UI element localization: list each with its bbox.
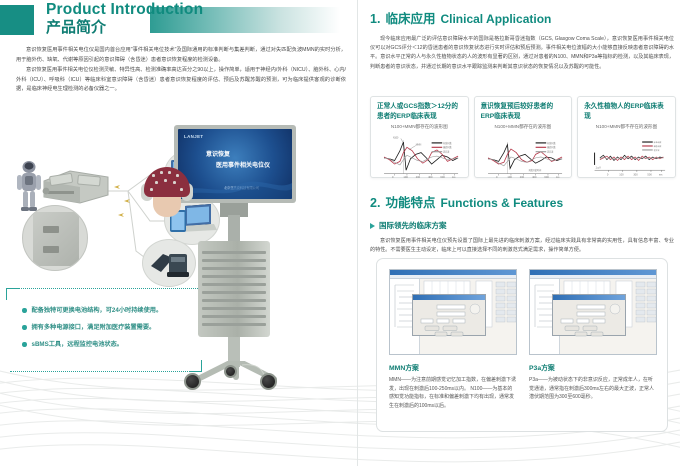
intro-paragraph-1: 意识恢复医用事件相关电位仪是国内首台应用"事件相关电位技术"及国际通用的标准判断…	[16, 46, 346, 65]
mmn-settings-dialog	[412, 294, 486, 336]
svg-text:400: 400	[428, 175, 433, 179]
section1-title-cn: 临床应用	[385, 8, 435, 27]
dialog-form-controls	[413, 300, 487, 337]
erp-waveform-chart-3: 1 µV 0100 300500 ms 标准刺激	[584, 132, 669, 182]
page-title-en: Product Introduction	[46, 2, 203, 18]
svg-text:标准刺激: 标准刺激	[547, 141, 556, 145]
plan-title-p3a: P3a方案	[529, 362, 657, 372]
feature-bullet-box: 配备独特可更换电池结构，可24小时持续使用。 拥有多种电源接口，满足附加医疗装置…	[6, 288, 202, 372]
section2-subheading: 国际领先的临床方案	[370, 220, 674, 231]
svg-text:100: 100	[403, 175, 408, 179]
svg-text:400: 400	[532, 175, 537, 179]
section2-number: 2.	[370, 196, 380, 210]
svg-text:MMN: MMN	[416, 145, 422, 147]
erp-card-2-subtitle: N100+MMN都存在的波形图	[481, 124, 566, 130]
section2-body: 意识恢复医用事件相关电位仪预先设置了国际上最先进的临床刺激方案，经过临床实践具有…	[370, 237, 674, 255]
section-clinical-application: 1. 临床应用 Clinical Application 现今临床应用最广泛的评…	[370, 8, 674, 72]
magnifier-inner-panel	[33, 212, 79, 266]
plan-desc-mmn: MMN——为注意前期感觉记忆加工指数，在偏差刺激下诱发，出现在刺激后100-25…	[389, 376, 517, 410]
svg-text:标准刺激: 标准刺激	[654, 140, 662, 144]
section2-title-en: Functions & Features	[440, 196, 563, 210]
erp-card-normal: 正常人或GCS指数＞12分的患者的ERP临床表现 N100+MMN都存在的波形图…	[370, 96, 469, 178]
bullet-dot-icon	[22, 308, 27, 313]
dialog-form-controls	[553, 300, 627, 337]
power-port-lower	[43, 246, 59, 253]
intro-paragraphs: 意识恢复医用事件相关电位仪是国内首台应用"事件相关电位技术"及国际通用的标准判断…	[16, 46, 346, 96]
svg-text:差异波: 差异波	[654, 148, 660, 152]
bullet-dot-icon	[22, 325, 27, 330]
svg-text:200: 200	[416, 175, 421, 179]
svg-text:0: 0	[607, 173, 609, 177]
svg-text:500: 500	[648, 173, 653, 177]
svg-text:ms: ms	[555, 176, 559, 179]
cart-wheel-right	[260, 373, 277, 390]
svg-text:0: 0	[392, 175, 394, 179]
erp-card-vegetative: 永久性植物人的ERP临床表现 N100+MMN都不存在的波形图 1 µV 010…	[577, 96, 676, 178]
screen-title-line1: 意识恢复	[206, 149, 230, 158]
p3a-settings-dialog	[552, 294, 626, 336]
erp-card-2-title: 意识恢复预后较好患者的ERP临床表现	[481, 102, 566, 121]
svg-text:100: 100	[507, 175, 512, 179]
bullet-item-3: sBMS工具，远程监控电池状态。	[22, 336, 202, 353]
screen-wave-decoration	[178, 173, 292, 199]
battery-module-device	[40, 167, 112, 207]
erp-card-3-title: 永久性植物人的ERP临床表现	[584, 102, 669, 121]
svg-text:刺激开始时间: 刺激开始时间	[528, 168, 541, 172]
svg-text:600: 600	[440, 175, 445, 179]
bullet-box-corner-bottomright	[190, 360, 202, 372]
section1-paragraph: 现今临床应用最广泛的评估意识障碍水平的国际是格拉斯哥昏迷指数（GCS, Glas…	[370, 35, 674, 72]
plan-desc-p3a: P3a——为被动状态下的非意识反应，正常成年人，在听觉通道，通常指在刺激后300…	[529, 376, 657, 402]
plan-column-mmn: MMN方案 MMN——为注意前期感觉记忆加工指数，在偏差刺激下诱发，出现在刺激后…	[389, 269, 517, 421]
svg-text:200: 200	[519, 175, 524, 179]
banner-square	[0, 5, 34, 35]
power-port-upper	[43, 226, 59, 233]
bullet-list: 配备独特可更换电池结构，可24小时持续使用。 拥有多种电源接口，满足附加医疗装置…	[6, 288, 202, 353]
bullet-dot-icon	[22, 342, 27, 347]
svg-text:偏差刺激: 偏差刺激	[443, 145, 452, 149]
bullet-text-3: sBMS工具，远程监控电池状态。	[32, 336, 123, 353]
svg-text:N100: N100	[393, 137, 399, 139]
section2-paragraph: 意识恢复医用事件相关电位仪预先设置了国际上最先进的临床刺激方案，经过临床实践具有…	[370, 237, 674, 255]
bullet-box-dashed-top	[18, 288, 198, 289]
plan-column-p3a: P3a方案 P3a——为被动状态下的非意识反应，正常成年人，在听觉通道，通常指在…	[529, 269, 657, 421]
left-column: Product Introduction 产品简介 意识恢复医用事件相关电位仪是…	[0, 0, 358, 466]
erp-card-3-subtitle: N100+MMN都不存在的波形图	[584, 124, 669, 130]
svg-text:差异波: 差异波	[547, 150, 554, 154]
plan-title-mmn: MMN方案	[389, 362, 517, 372]
section1-title-en: Clinical Application	[440, 12, 551, 26]
bullet-item-2: 拥有多种电源接口，满足附加医疗装置需要。	[22, 319, 202, 336]
triangle-bullet-icon	[370, 223, 375, 229]
svg-text:100: 100	[619, 173, 624, 177]
svg-text:ms: ms	[452, 176, 456, 179]
right-column: 1. 临床应用 Clinical Application 现今临床应用最广泛的评…	[358, 0, 680, 466]
screen-title-line2: 医用事件相关电位仪	[216, 160, 270, 169]
svg-text:偏差刺激: 偏差刺激	[654, 144, 662, 148]
page-title: Product Introduction 产品简介	[46, 2, 203, 36]
monitor-screen: LANJET 意识恢复 医用事件相关电位仪 北京蓝杰克科技有限公司	[178, 129, 292, 199]
section1-body: 现今临床应用最广泛的评估意识障碍水平的国际是格拉斯哥昏迷指数（GCS, Glas…	[370, 35, 674, 72]
section-functions-features: 2. 功能特点 Functions & Features 国际领先的临床方案 意…	[370, 192, 674, 255]
section2-title: 2. 功能特点 Functions & Features	[370, 192, 674, 211]
column-divider	[357, 0, 358, 466]
eeg-electrode-cap	[144, 167, 190, 197]
cart-wheel-center	[224, 365, 237, 378]
erp-card-1-subtitle: N100+MMN都存在的波形图	[377, 124, 462, 130]
cart-wheel-left	[184, 373, 201, 390]
section2-subheading-text: 国际领先的临床方案	[379, 220, 447, 231]
bullet-box-dashed-bottom	[10, 371, 190, 372]
mmn-software-screenshot	[389, 269, 517, 355]
bullet-box-corner-topleft	[6, 288, 18, 300]
svg-text:600: 600	[544, 175, 549, 179]
p3a-software-screenshot	[529, 269, 657, 355]
erp-card-1-title: 正常人或GCS指数＞12分的患者的ERP临床表现	[377, 102, 462, 121]
bullet-text-1: 配备独特可更换电池结构，可24小时持续使用。	[32, 302, 163, 319]
svg-text:偏差刺激: 偏差刺激	[547, 145, 556, 149]
eeg-head-model	[144, 167, 190, 225]
monitor-neck	[228, 215, 240, 241]
svg-text:差异波: 差异波	[443, 150, 450, 154]
section1-title: 1. 临床应用 Clinical Application	[370, 8, 674, 27]
svg-text:ms: ms	[659, 174, 663, 177]
svg-text:标准刺激: 标准刺激	[443, 141, 452, 145]
software-plans-panel: MMN方案 MMN——为注意前期感觉记忆加工指数，在偏差刺激下诱发，出现在刺激后…	[376, 258, 668, 432]
erp-waveform-chart-2: 0100 200400 600ms 标准刺激 偏差刺激 差异波 刺激开始时间	[481, 132, 566, 182]
intro-paragraph-2: 意识恢复医用事件相关电位仪检测灵敏、特异性高、检测准确率高达百分之90以上，操作…	[16, 66, 346, 95]
svg-text:1 µV: 1 µV	[596, 165, 602, 169]
erp-waveform-chart-1: 0100 200400 600ms N100 MMN 标准刺激	[377, 132, 462, 182]
erp-card-row: 正常人或GCS指数＞12分的患者的ERP临床表现 N100+MMN都存在的波形图…	[370, 96, 676, 178]
brand-logo: LANJET	[184, 134, 203, 139]
battery-port-magnifier	[22, 205, 88, 271]
bullet-item-1: 配备独特可更换电池结构，可24小时持续使用。	[22, 302, 202, 319]
erp-card-good-prognosis: 意识恢复预后较好患者的ERP临床表现 N100+MMN都存在的波形图 0100 …	[474, 96, 573, 178]
page-title-cn: 产品简介	[46, 19, 203, 36]
svg-text:0: 0	[496, 175, 498, 179]
bullet-text-2: 拥有多种电源接口，满足附加医疗装置需要。	[32, 319, 156, 336]
section2-title-cn: 功能特点	[385, 192, 435, 211]
svg-text:300: 300	[634, 173, 639, 177]
cart-cabinet	[198, 241, 270, 337]
section1-number: 1.	[370, 12, 380, 26]
